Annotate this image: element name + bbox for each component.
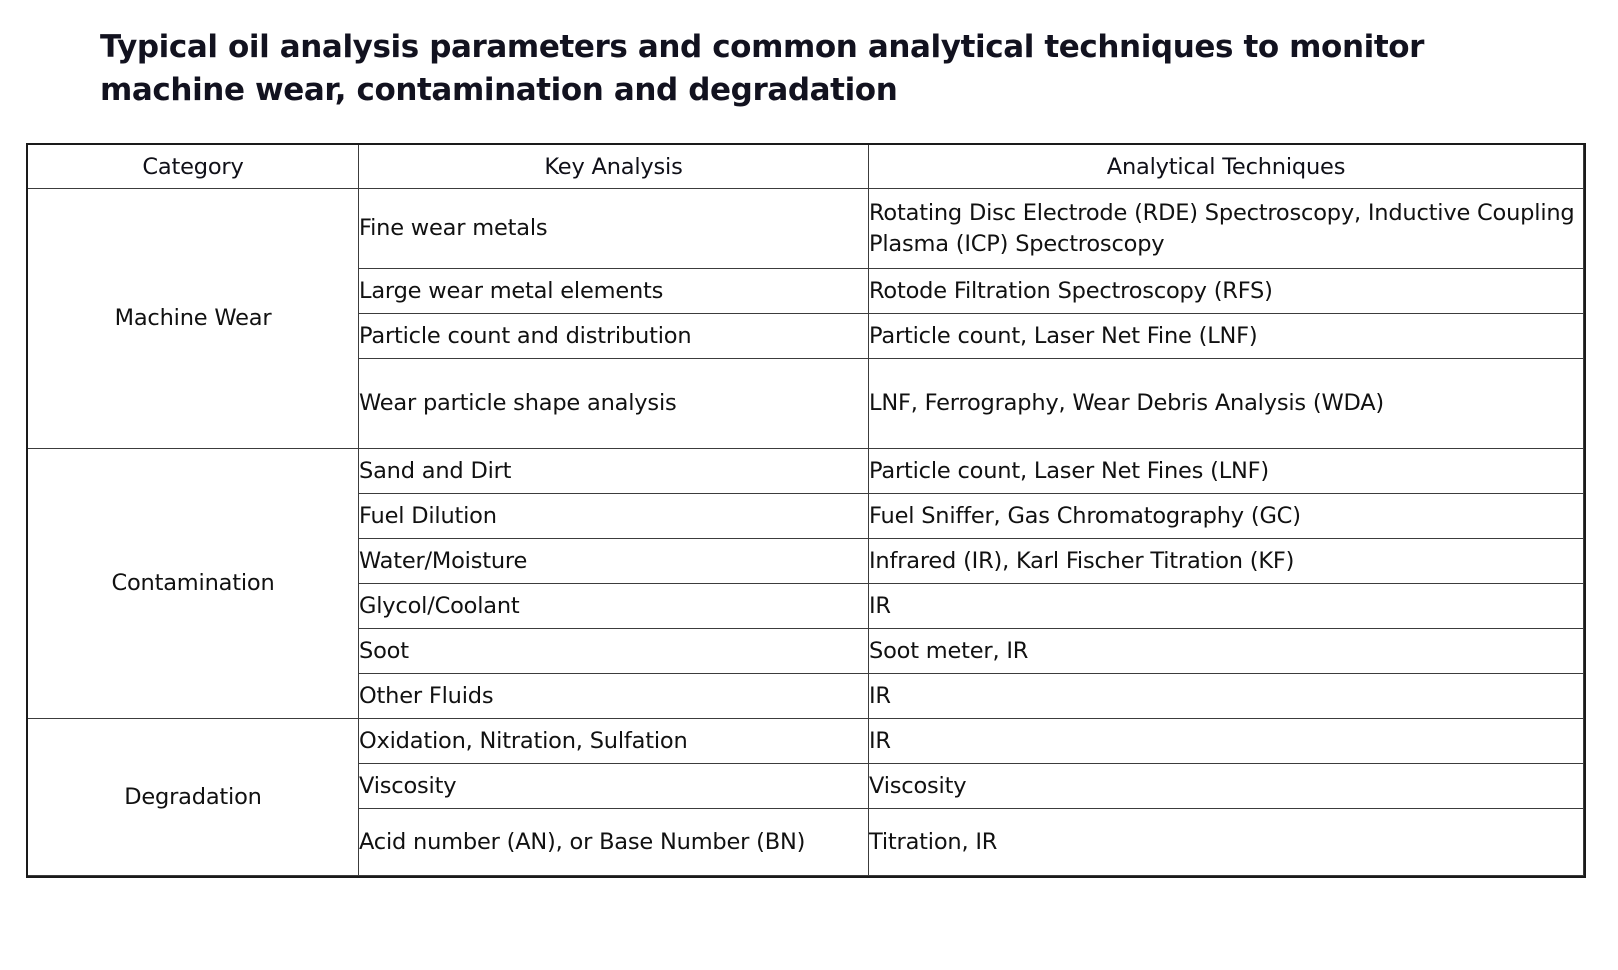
techniques-cell: IR [869, 719, 1584, 764]
key-analysis-cell: Oxidation, Nitration, Sulfation [359, 719, 869, 764]
techniques-cell: IR [869, 674, 1584, 719]
table-row: Contamination Sand and Dirt Particle cou… [28, 449, 1584, 494]
key-analysis-cell: Glycol/Coolant [359, 584, 869, 629]
techniques-cell: Rotating Disc Electrode (RDE) Spectrosco… [869, 189, 1584, 269]
category-cell-machine-wear: Machine Wear [28, 189, 359, 449]
techniques-cell: Rotode Filtration Spectroscopy (RFS) [869, 269, 1584, 314]
table-body: Machine Wear Fine wear metals Rotating D… [28, 189, 1584, 876]
key-analysis-cell: Soot [359, 629, 869, 674]
techniques-cell: Infrared (IR), Karl Fischer Titration (K… [869, 539, 1584, 584]
category-cell-degradation: Degradation [28, 719, 359, 876]
table-row: Machine Wear Fine wear metals Rotating D… [28, 189, 1584, 269]
page-title: Typical oil analysis parameters and comm… [100, 26, 1520, 112]
column-header-key-analysis: Key Analysis [359, 145, 869, 189]
key-analysis-cell: Viscosity [359, 764, 869, 809]
document-page: Typical oil analysis parameters and comm… [0, 0, 1618, 970]
techniques-cell: Particle count, Laser Net Fine (LNF) [869, 314, 1584, 359]
key-analysis-cell: Acid number (AN), or Base Number (BN) [359, 809, 869, 876]
category-cell-contamination: Contamination [28, 449, 359, 719]
techniques-cell: Fuel Sniffer, Gas Chromatography (GC) [869, 494, 1584, 539]
oil-analysis-table: Category Key Analysis Analytical Techniq… [27, 144, 1584, 876]
key-analysis-cell: Particle count and distribution [359, 314, 869, 359]
key-analysis-cell: Fuel Dilution [359, 494, 869, 539]
techniques-cell: LNF, Ferrography, Wear Debris Analysis (… [869, 359, 1584, 449]
key-analysis-cell: Wear particle shape analysis [359, 359, 869, 449]
table-header: Category Key Analysis Analytical Techniq… [28, 145, 1584, 189]
column-header-analytical-techniques: Analytical Techniques [869, 145, 1584, 189]
techniques-cell: Particle count, Laser Net Fines (LNF) [869, 449, 1584, 494]
key-analysis-cell: Other Fluids [359, 674, 869, 719]
techniques-cell: Titration, IR [869, 809, 1584, 876]
key-analysis-cell: Fine wear metals [359, 189, 869, 269]
key-analysis-cell: Water/Moisture [359, 539, 869, 584]
oil-analysis-table-wrapper: Category Key Analysis Analytical Techniq… [27, 144, 1583, 876]
column-header-category: Category [28, 145, 359, 189]
key-analysis-cell: Sand and Dirt [359, 449, 869, 494]
table-header-row: Category Key Analysis Analytical Techniq… [28, 145, 1584, 189]
techniques-cell: Viscosity [869, 764, 1584, 809]
table-row: Degradation Oxidation, Nitration, Sulfat… [28, 719, 1584, 764]
techniques-cell: Soot meter, IR [869, 629, 1584, 674]
techniques-cell: IR [869, 584, 1584, 629]
key-analysis-cell: Large wear metal elements [359, 269, 869, 314]
